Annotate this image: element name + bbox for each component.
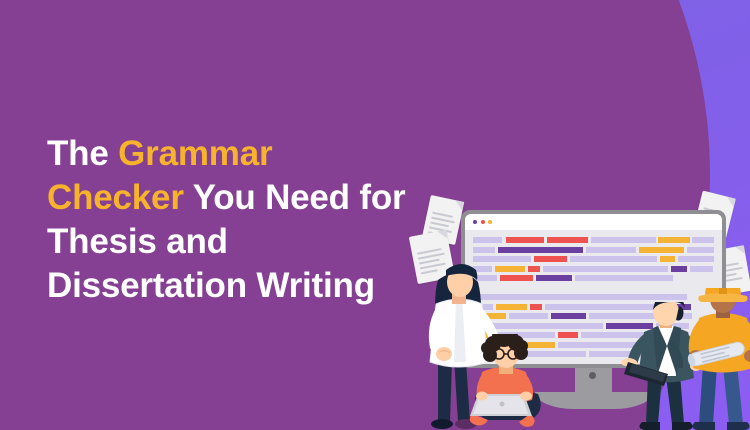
browser-dot-yellow-icon	[488, 220, 492, 224]
character-construction-worker	[683, 288, 750, 430]
line-highlight-pur	[498, 247, 583, 253]
line-highlight-lav	[543, 266, 668, 272]
line-highlight-yel	[639, 247, 684, 253]
line-highlight-lav	[586, 247, 637, 253]
banner-root: The Grammar Checker You Need for Thesis …	[0, 0, 750, 430]
line-highlight-lav	[687, 247, 714, 253]
line-highlight-lav	[570, 256, 656, 262]
line-highlight-red	[558, 332, 578, 338]
line-highlight-lav	[473, 237, 502, 243]
monitor-power-indicator-icon	[589, 372, 596, 379]
line-highlight-red	[547, 237, 589, 243]
line-highlight-pur	[551, 313, 586, 319]
line-highlight-lav	[473, 247, 495, 253]
document-line	[473, 247, 714, 253]
paper-fold-icon	[725, 197, 736, 208]
document-line	[473, 237, 714, 243]
line-highlight-yel	[658, 237, 689, 243]
hero-illustration	[0, 0, 750, 430]
line-highlight-lav	[591, 237, 656, 243]
paper-fold-icon	[735, 245, 745, 255]
line-highlight-lav	[692, 237, 714, 243]
line-highlight-red	[506, 237, 544, 243]
line-highlight-red	[534, 256, 567, 262]
line-highlight-lav	[690, 266, 713, 272]
paper-fold-icon	[454, 200, 465, 211]
character-seated-student	[466, 334, 550, 430]
line-highlight-red	[530, 304, 542, 310]
browser-dot-red-icon	[481, 220, 485, 224]
line-highlight-yel	[660, 256, 676, 262]
browser-titlebar	[465, 214, 722, 230]
line-highlight-pur	[671, 266, 687, 272]
browser-dot-purple-icon	[473, 220, 477, 224]
line-highlight-lav	[575, 275, 673, 281]
paper-fold-icon	[437, 230, 448, 241]
line-highlight-red	[528, 266, 540, 272]
line-highlight-lav	[678, 256, 714, 262]
line-highlight-pur	[536, 275, 572, 281]
